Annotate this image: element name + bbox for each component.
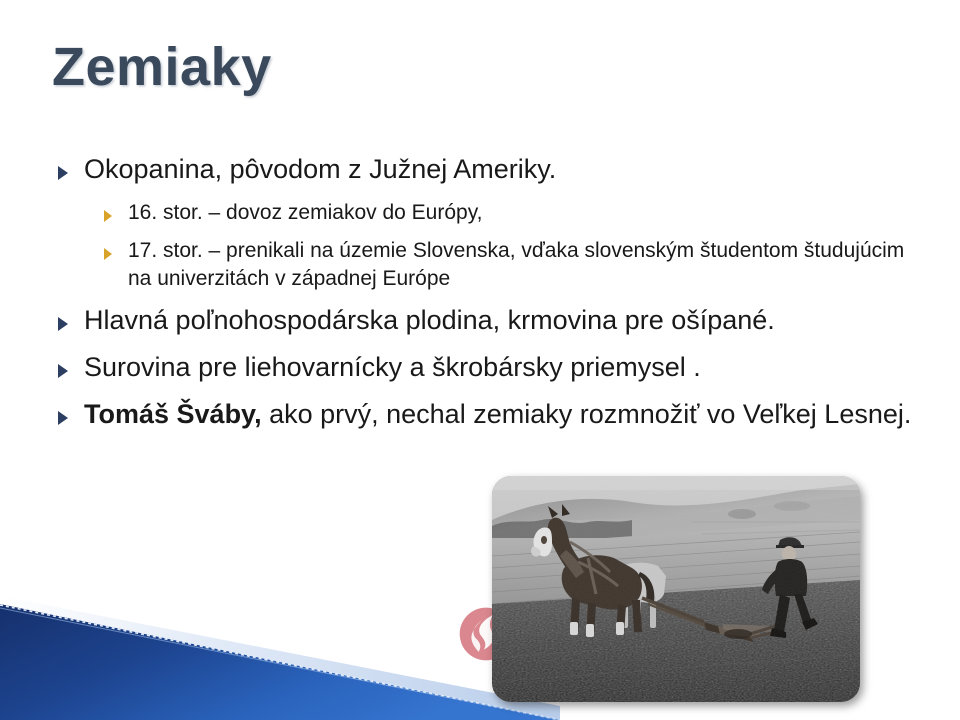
bullet-item: Surovina pre liehovarnícky a škrobársky … [58,350,918,385]
spacer [58,341,918,350]
bullet-text: Tomáš Šváby, ako prvý, nechal zemiaky ro… [84,397,918,432]
bullet-item: 17. stor. – prenikali na územie Slovensk… [104,237,918,292]
photograph-content [492,476,860,702]
presentation-slide: Zemiaky Okopanina, pôvodom z Južnej Amer… [0,0,960,720]
bullet-text: Okopanina, pôvodom z Južnej Ameriky. [84,152,918,187]
bullet-item: 16. stor. – dovoz zemiakov do Európy, [104,199,918,226]
bullet-text: Hlavná poľnohospodárska plodina, krmovin… [84,303,918,338]
spacer [58,388,918,397]
bullet-text: 17. stor. – prenikali na územie Slovensk… [128,237,918,292]
bullet-bold-prefix: Tomáš Šváby, [84,399,262,429]
slide-body-content: Okopanina, pôvodom z Južnej Ameriky. 16.… [58,152,918,435]
spacer [58,228,918,237]
triangle-bullet-icon [58,411,68,425]
corner-decoration-graphic [0,590,560,720]
triangle-bullet-icon [58,166,68,180]
spacer [58,190,918,199]
triangle-bullet-icon [104,210,112,222]
bullet-item: Okopanina, pôvodom z Južnej Ameriky. [58,152,918,187]
bullet-rest-text: ako prvý, nechal zemiaky rozmnožiť vo Ve… [262,399,912,429]
bullet-text: Surovina pre liehovarnícky a škrobársky … [84,350,918,385]
corner-decoration [0,590,560,720]
spacer [58,294,918,303]
bullet-item: Hlavná poľnohospodárska plodina, krmovin… [58,303,918,338]
triangle-bullet-icon [58,364,68,378]
page-title: Zemiaky [52,38,272,97]
bullet-text: 16. stor. – dovoz zemiakov do Európy, [128,199,918,226]
triangle-bullet-icon [104,248,112,260]
triangle-bullet-icon [58,317,68,331]
historical-plowing-photograph [492,476,860,702]
bullet-item: Tomáš Šváby, ako prvý, nechal zemiaky ro… [58,397,918,432]
